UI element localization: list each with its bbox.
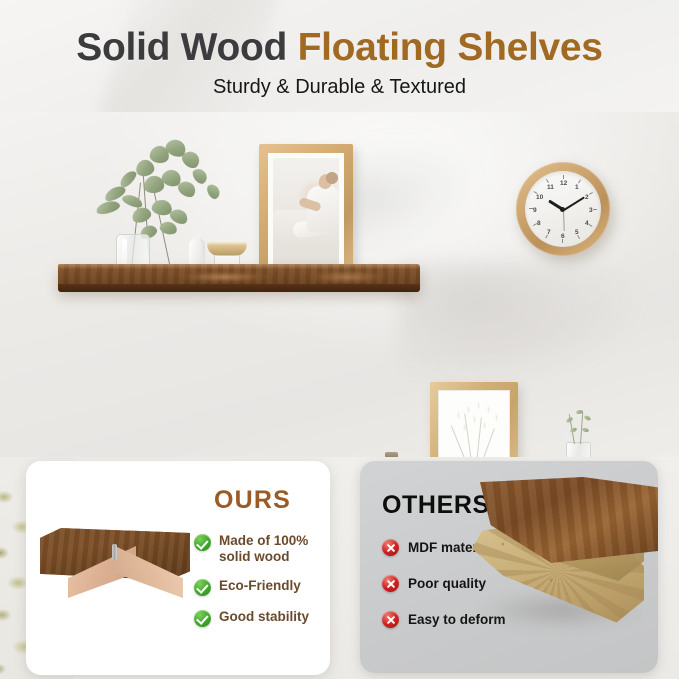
clock-numeral: 5 [575,229,579,236]
clock-numeral: 2 [585,194,589,201]
headline-primary: Solid Wood [76,26,297,69]
ours-feature-list: Made of 100% solid wood Eco-Friendly Goo… [194,533,328,640]
list-item: Eco-Friendly [194,578,328,596]
shelf-upper-edge [58,284,420,292]
figure-hair [326,172,338,184]
gold-bowl [207,242,247,256]
photo-mat [268,153,344,269]
comparison-section: OURS Made of 100% solid wood Eco-Friendl… [0,457,679,679]
ours-card: OURS Made of 100% solid wood Eco-Friendl… [26,461,330,675]
joint-pin [112,544,117,560]
clock-numeral: 9 [533,207,537,214]
ours-title: OURS [214,486,291,515]
wall-shadow [400,262,640,382]
clock-minute-hand [563,196,584,210]
list-item: Good stability [194,609,328,627]
headline-accent: Floating Shelves [298,26,603,69]
x-circle-icon [382,539,399,556]
others-card: OTHERS MDF material Poor quality Easy to… [360,461,658,673]
clock-center-pin [560,207,565,212]
small-glass-vase [566,442,591,457]
page-subtitle: Sturdy & Durable & Textured [0,76,679,99]
hero-product-photo: 12 1 2 3 4 5 6 7 8 9 10 11 [0,112,679,457]
print-image [438,390,510,457]
header-banner: Solid Wood Floating Shelves Sturdy & Dur… [0,0,679,112]
clock-second-hand [563,210,565,231]
clock-numeral: 7 [547,229,551,236]
list-item: Made of 100% solid wood [194,533,328,565]
clock-face: 12 1 2 3 4 5 6 7 8 9 10 11 [525,171,601,247]
check-circle-icon [194,610,211,627]
clock-numeral: 8 [537,220,541,227]
ours-feature-label: Made of 100% solid wood [219,533,328,565]
wall-clock: 12 1 2 3 4 5 6 7 8 9 10 11 [516,162,610,256]
x-circle-icon [382,575,399,592]
wood-grain-knot [308,270,386,284]
solid-wood-joint-image [40,518,190,610]
photo-image [273,158,339,264]
check-circle-icon [194,579,211,596]
wood-grain-knot [178,271,270,283]
page-title: Solid Wood Floating Shelves [0,26,679,70]
mdf-board-image [472,469,658,665]
clock-numeral: 11 [547,184,554,191]
clock-numeral: 4 [585,220,589,227]
clock-numeral: 12 [560,180,567,187]
clock-numeral: 1 [575,184,579,191]
x-circle-icon [382,611,399,628]
framed-botanical-print [430,382,518,457]
check-circle-icon [194,534,211,551]
clock-numeral: 10 [536,194,543,201]
framed-photo-woman [259,144,353,278]
ours-feature-label: Good stability [219,609,309,625]
clock-numeral: 3 [589,207,593,214]
clock-numeral: 6 [561,233,565,240]
ours-feature-label: Eco-Friendly [219,578,301,594]
